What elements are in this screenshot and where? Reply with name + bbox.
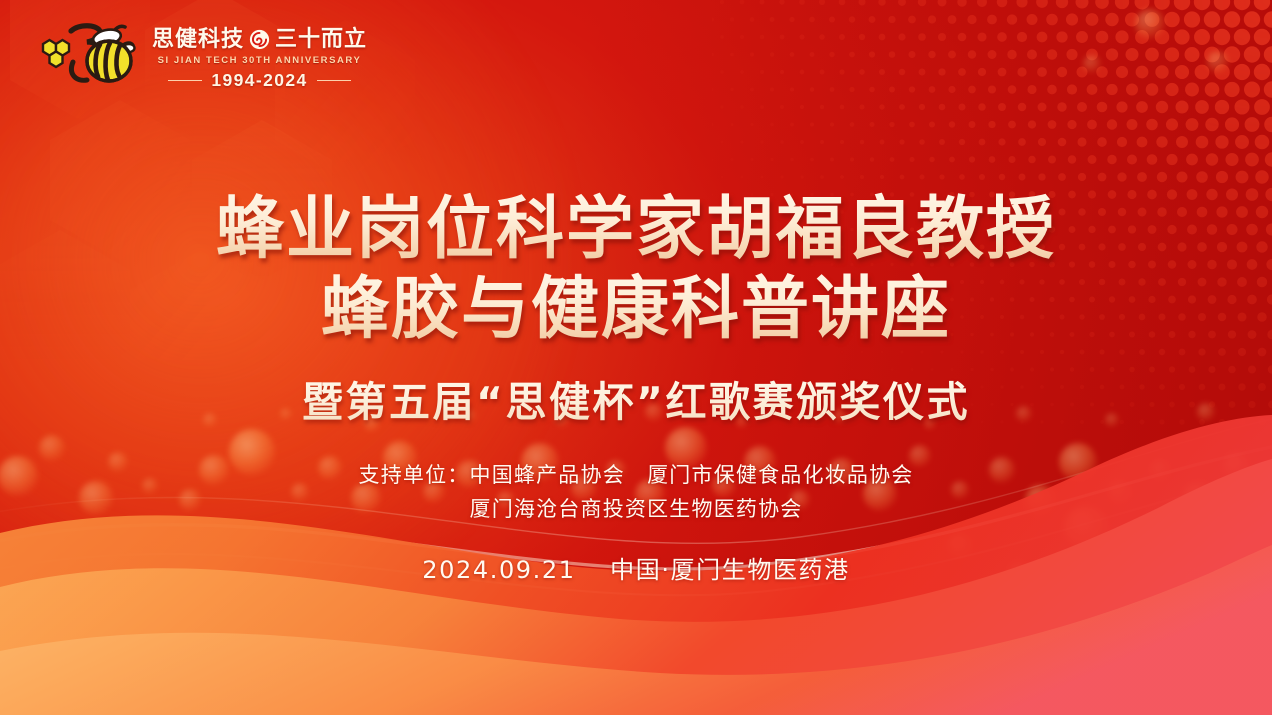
bee-30-anniversary-logo-icon bbox=[30, 14, 142, 100]
support-line-2: 厦门海沧台商投资区生物医药协会 bbox=[0, 492, 1272, 526]
brand-english-tagline: SI JIAN TECH 30TH ANNIVERSARY bbox=[158, 55, 362, 66]
brand-name-left: 思健科技 bbox=[152, 29, 244, 51]
support-line-1: 支持单位：中国蜂产品协会 厦门市保健食品化妆品协会 bbox=[0, 458, 1272, 492]
brand-years: 1994-2024 bbox=[211, 72, 307, 90]
event-subtitle: 暨第五届“思健杯”红歌赛颁奖仪式 bbox=[0, 378, 1272, 427]
event-location: 中国·厦门生物医药港 bbox=[610, 556, 850, 584]
event-banner: 思健科技 三十而立 SI JIAN TECH 30TH ANNIVERSARY … bbox=[0, 0, 1272, 715]
title-line-2: 蜂胶与健康科普讲座 bbox=[0, 272, 1272, 349]
supporting-organizations: 支持单位：中国蜂产品协会 厦门市保健食品化妆品协会 厦门海沧台商投资区生物医药协… bbox=[0, 458, 1272, 526]
brand-name-right: 三十而立 bbox=[275, 29, 367, 51]
brand-chinese-row: 思健科技 三十而立 bbox=[152, 29, 367, 51]
rule-left bbox=[168, 80, 202, 82]
brand-years-row: 1994-2024 bbox=[168, 72, 350, 90]
event-date: 2024.09.21 bbox=[422, 556, 575, 584]
brand-wordmark: 思健科技 三十而立 SI JIAN TECH 30TH ANNIVERSARY … bbox=[152, 25, 367, 90]
title-line-1: 蜂业岗位科学家胡福良教授 bbox=[0, 192, 1272, 269]
date-location-bar: 2024.09.21 中国·厦门生物医药港 bbox=[0, 550, 1272, 585]
spiral-swirl-icon bbox=[249, 29, 270, 50]
rule-right bbox=[317, 80, 351, 82]
brand-logo: 思健科技 三十而立 SI JIAN TECH 30TH ANNIVERSARY … bbox=[30, 14, 367, 100]
